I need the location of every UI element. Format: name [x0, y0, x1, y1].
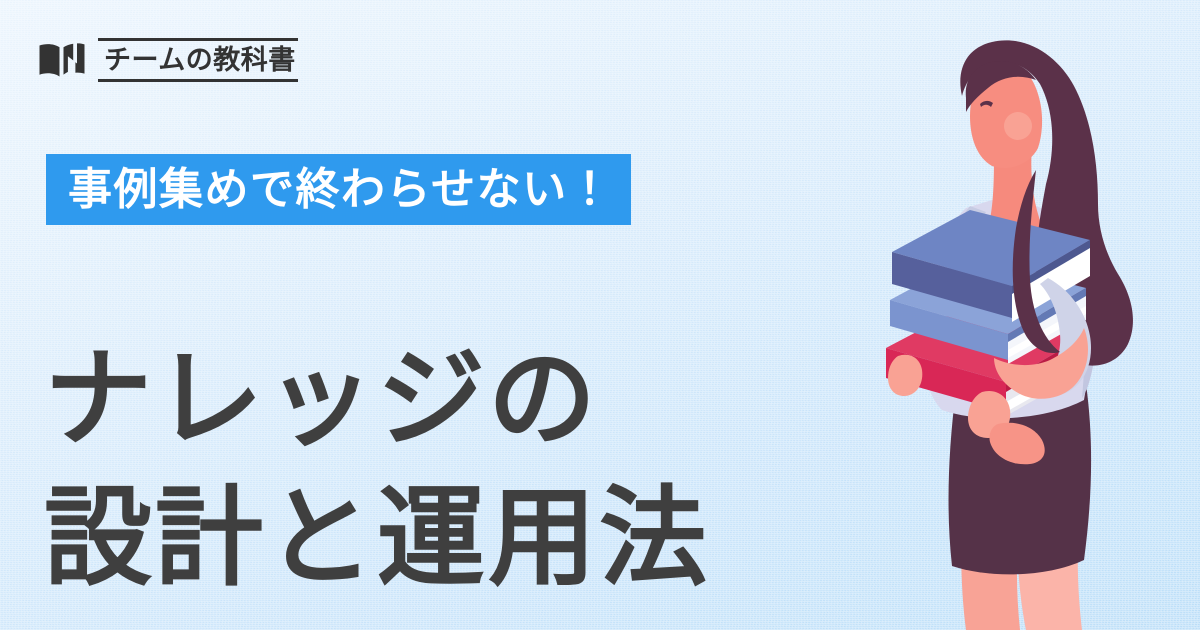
page-title-line-1: ナレッジの — [44, 330, 710, 468]
open-book-icon — [38, 40, 86, 80]
site-logo[interactable]: チームの教科書 — [38, 38, 298, 82]
page-title: ナレッジの 設計と運用法 — [44, 330, 710, 606]
og-image-canvas: チームの教科書 事例集めで終わらせない！ ナレッジの 設計と運用法 — [0, 0, 1200, 630]
page-title-line-2: 設計と運用法 — [44, 469, 710, 607]
kicker-banner-text: 事例集めで終わらせない！ — [68, 168, 613, 212]
hero-illustration — [870, 0, 1200, 630]
logo-text-rule-box: チームの教科書 — [98, 38, 298, 82]
woman-carrying-books-illustration — [870, 0, 1200, 630]
ear — [1004, 112, 1032, 140]
logo-text: チームの教科書 — [104, 45, 296, 76]
kicker-banner: 事例集めで終わらせない！ — [46, 154, 631, 225]
